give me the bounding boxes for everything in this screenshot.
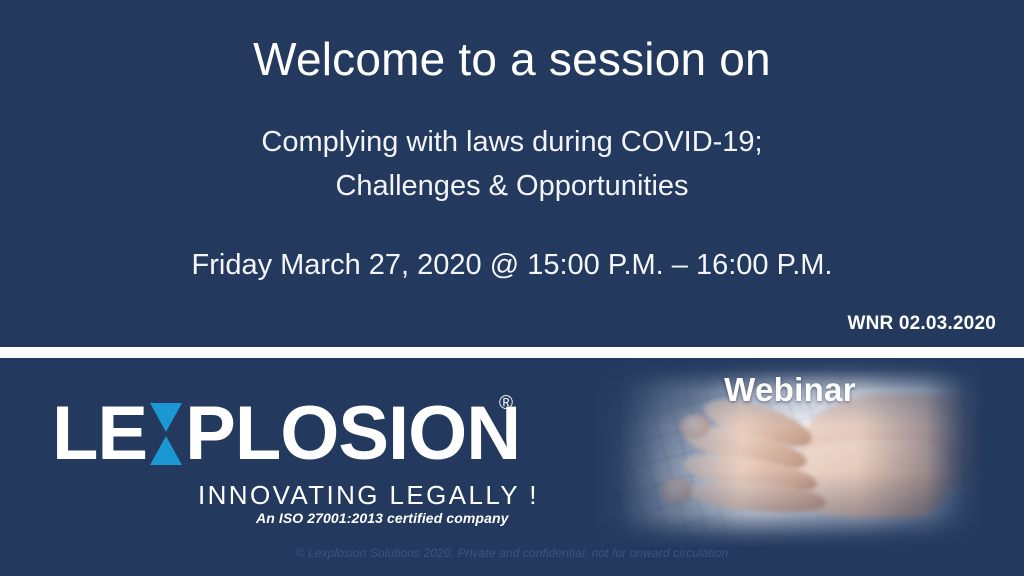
- logo-wordmark-suffix: PLOSION: [185, 396, 520, 472]
- session-datetime: Friday March 27, 2020 @ 15:00 P.M. – 16:…: [0, 249, 1024, 282]
- reference-code: WNR 02.03.2020: [847, 313, 996, 335]
- logo-wordmark: LE PLOSION: [52, 396, 520, 472]
- copyright-notice: © Lexplosion Solutions 2020, Private and…: [0, 546, 1024, 560]
- presentation-slide: Welcome to a session on Complying with l…: [0, 0, 1024, 576]
- registered-trademark-icon: ®: [499, 394, 513, 413]
- logo-hourglass-x-icon: [150, 403, 182, 465]
- slide-header-panel: Welcome to a session on Complying with l…: [0, 0, 1024, 348]
- session-subtitle-line-2: Challenges & Opportunities: [0, 164, 1024, 208]
- company-logo: LE PLOSION ® INNOVATING LEGALLY ! An ISO…: [52, 396, 522, 526]
- logo-wordmark-prefix: LE: [52, 396, 147, 472]
- page-title: Welcome to a session on: [0, 34, 1024, 86]
- horizontal-divider: [0, 347, 1024, 358]
- session-subtitle: Complying with laws during COVID-19; Cha…: [0, 120, 1024, 208]
- logo-tagline: INNOVATING LEGALLY !: [198, 480, 539, 511]
- iso-certification-text: An ISO 27001:2013 certified company: [256, 510, 509, 526]
- webinar-label: Webinar: [640, 371, 940, 409]
- session-subtitle-line-1: Complying with laws during COVID-19;: [0, 120, 1024, 164]
